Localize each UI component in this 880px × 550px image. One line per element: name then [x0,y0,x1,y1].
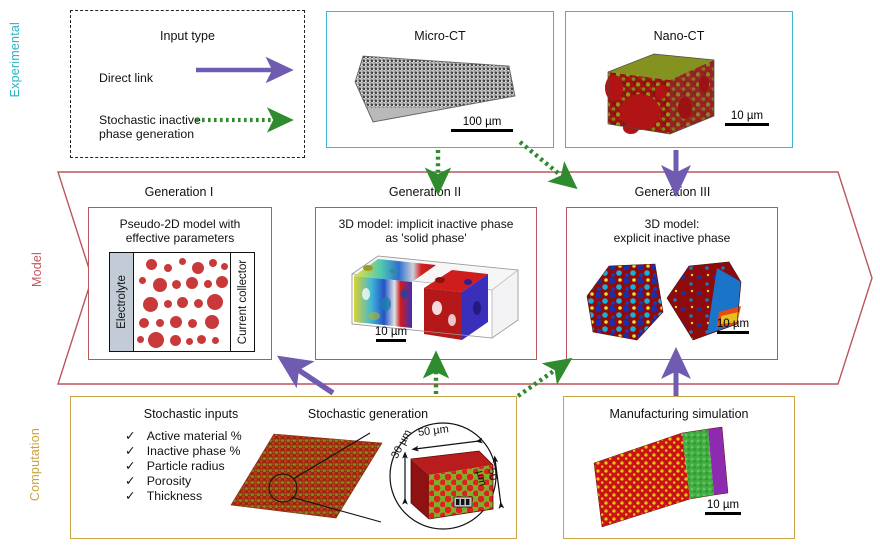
nano-ct-scale-label: 10 µm [731,110,763,122]
current-collector-label: Current collector [237,260,249,344]
particle [179,258,186,265]
generation-1-schematic: Electrolyte Current collector [109,252,255,352]
particle [216,276,228,288]
particle [137,336,144,343]
legend-item-direct-link-label: Direct link [99,71,153,85]
generation-3-image [567,208,779,361]
generation-3-title: Generation III [565,185,780,199]
generation-2-scale-label: 10 µm [375,326,407,338]
panel-micro-ct: Micro-CT 100 µm [326,11,554,148]
panel-generation-2: 3D model: implicit inactive phase as 'so… [315,207,537,360]
particle [205,315,219,329]
generation-1-title: Generation I [86,185,272,199]
particle [170,335,181,346]
generation-3-title-wrap: Generation III [565,185,780,203]
particle [186,277,198,289]
generation-2-image [316,208,538,361]
legend-item-stochastic-label-line1: Stochastic inactive [99,113,201,127]
micro-ct-scalebar: 100 µm [445,116,519,132]
particle [148,332,164,348]
nano-ct-scale-line [725,123,769,126]
generation-2-scale-line [376,339,406,342]
particle [139,318,149,328]
electrolyte-region: Electrolyte [110,253,134,351]
particle [143,297,158,312]
nano-ct-scalebar: 10 µm [716,110,778,126]
electrolyte-label: Electrolyte [116,275,128,329]
particle [170,316,182,328]
particle [209,259,217,267]
particle [194,299,203,308]
particle [212,337,219,344]
micro-ct-scale-line [451,129,513,132]
particle [197,335,206,344]
generation-2-title: Generation II [310,185,540,199]
particle [192,262,204,274]
figure-root: Experimental Model Computation Input typ… [0,0,880,550]
particle [156,319,164,327]
generation-3-scale-line [717,331,749,334]
generation-1-title-wrap: Generation I [86,185,272,203]
particle [164,300,172,308]
particle [146,259,157,270]
particle [204,280,212,288]
particle [177,297,188,308]
connector-stochastic-to-gen3 [518,368,558,396]
particle [188,319,197,328]
manufacturing-scale-line [705,512,741,515]
panel-generation-3: 3D model: explicit inactive phase [566,207,778,360]
panel-nano-ct: Nano-CT [565,11,793,148]
micro-ct-scale-label: 100 µm [463,116,502,128]
generation-2-scalebar: 10 µm [360,326,422,342]
generation-3-scalebar: 10 µm [703,318,763,334]
manufacturing-simulation-image [564,397,796,540]
legend-panel: Input type Direct link Stochastic inacti… [70,10,305,158]
legend-item-stochastic-label-line2: phase generation [99,127,194,141]
generation-1-caption-line2: effective parameters [89,231,271,245]
manufacturing-scalebar: 10 µm [692,499,754,515]
particle [221,263,228,270]
nano-ct-image [566,12,794,149]
current-collector-region: Current collector [230,253,254,351]
section-label-model: Model [30,252,44,287]
manufacturing-scale-label: 10 µm [707,499,739,511]
section-label-computation: Computation [28,428,42,501]
stochastic-generation-image [71,397,518,540]
panel-generation-1: Pseudo-2D model with effective parameter… [88,207,272,360]
particle [139,277,146,284]
particle [186,338,193,345]
particle [164,264,172,272]
particle [172,280,181,289]
section-label-experimental: Experimental [8,22,22,97]
micro-ct-image [327,12,555,149]
particle [153,278,167,292]
generation-1-caption-line1: Pseudo-2D model with [89,217,271,231]
panel-manufacturing-simulation: Manufacturing simulation [563,396,795,539]
particle [207,294,223,310]
legend-title: Input type [71,29,304,43]
generation-3-scale-label: 10 µm [717,318,749,330]
generation-2-title-wrap: Generation II [310,185,540,203]
connector-stochastic-to-gen1 [294,367,333,393]
panel-stochastic-inputs: Stochastic inputs ✓ Active material % ✓ … [70,396,517,539]
